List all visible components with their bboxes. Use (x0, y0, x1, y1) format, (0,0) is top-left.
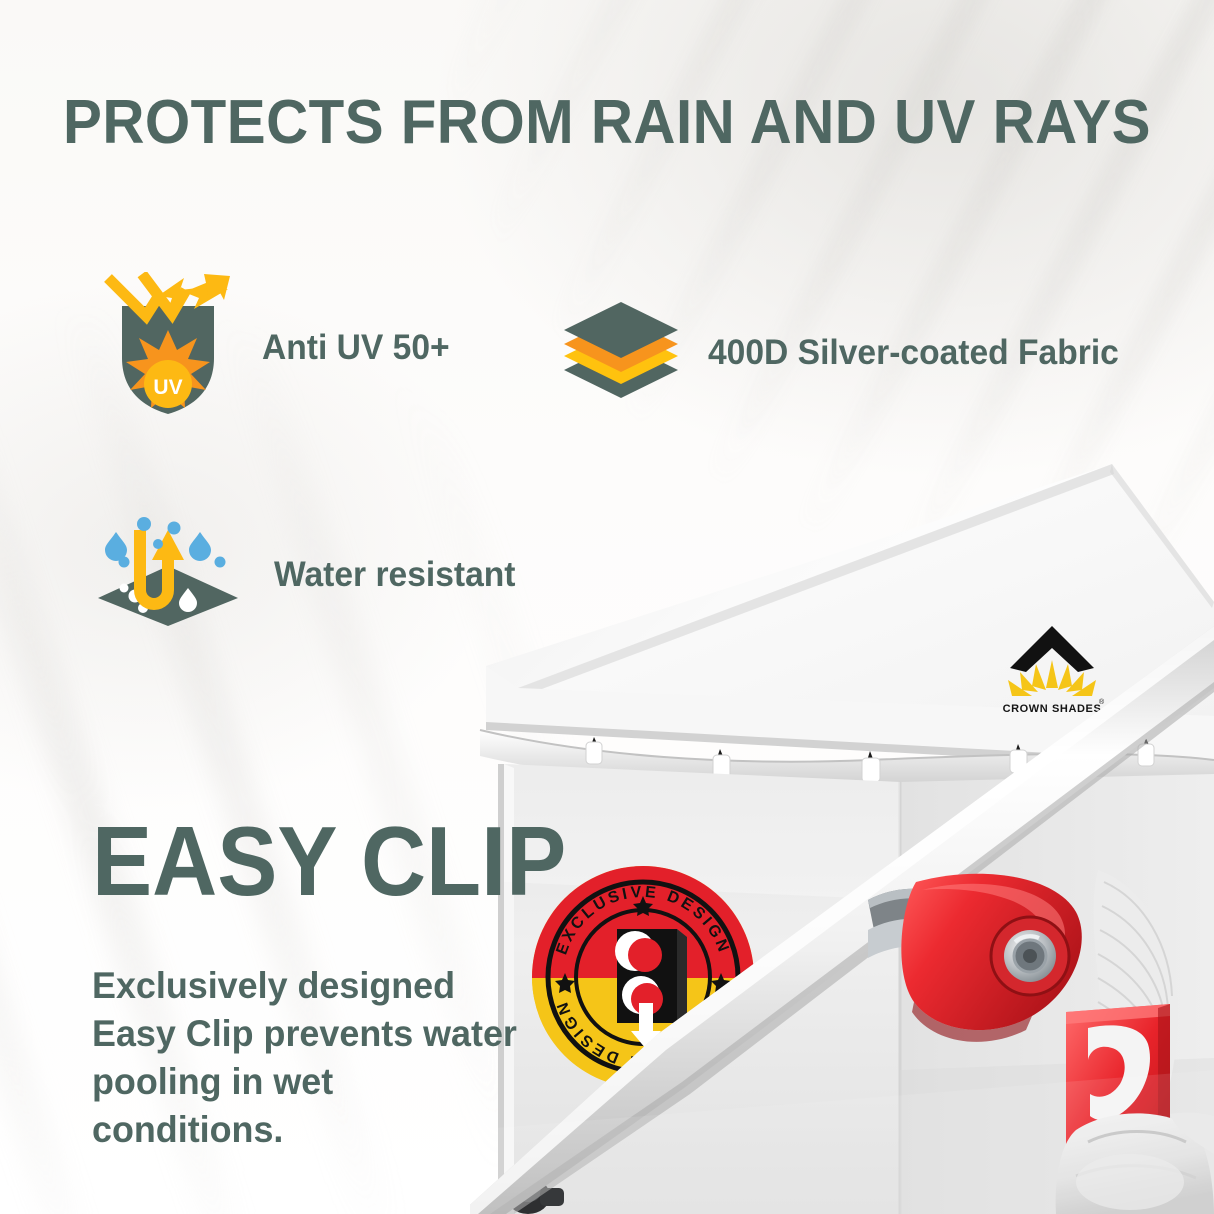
feature-water-resistant: Water resistant (88, 516, 526, 633)
feature-fabric-label: 400D Silver-coated Fabric (708, 333, 1119, 373)
feature-anti-uv: UV Anti UV 50+ (100, 272, 457, 423)
page-headline: PROTECTS FROM RAIN AND UV RAYS (36, 92, 1177, 154)
easy-clip-description: Exclusively designed Easy Clip prevents … (92, 962, 530, 1154)
feature-anti-uv-label: Anti UV 50+ (262, 328, 450, 368)
brand-logo-text: CROWN SHADES (1003, 703, 1102, 715)
uv-badge-text: UV (153, 376, 182, 399)
water-repellent-icon (88, 516, 248, 633)
product-photo: CROWN SHADES ® (470, 430, 1214, 1214)
brand-logo-registered: ® (1099, 698, 1105, 706)
fabric-layers-icon (560, 300, 682, 405)
easy-clip-title: EASY CLIP (92, 812, 566, 910)
infographic-page: PROTECTS FROM RAIN AND UV RAYS UV (0, 0, 1214, 1214)
feature-fabric: 400D Silver-coated Fabric (560, 300, 1136, 405)
clip-screw-knob[interactable] (991, 917, 1069, 995)
uv-shield-icon: UV (100, 272, 236, 423)
